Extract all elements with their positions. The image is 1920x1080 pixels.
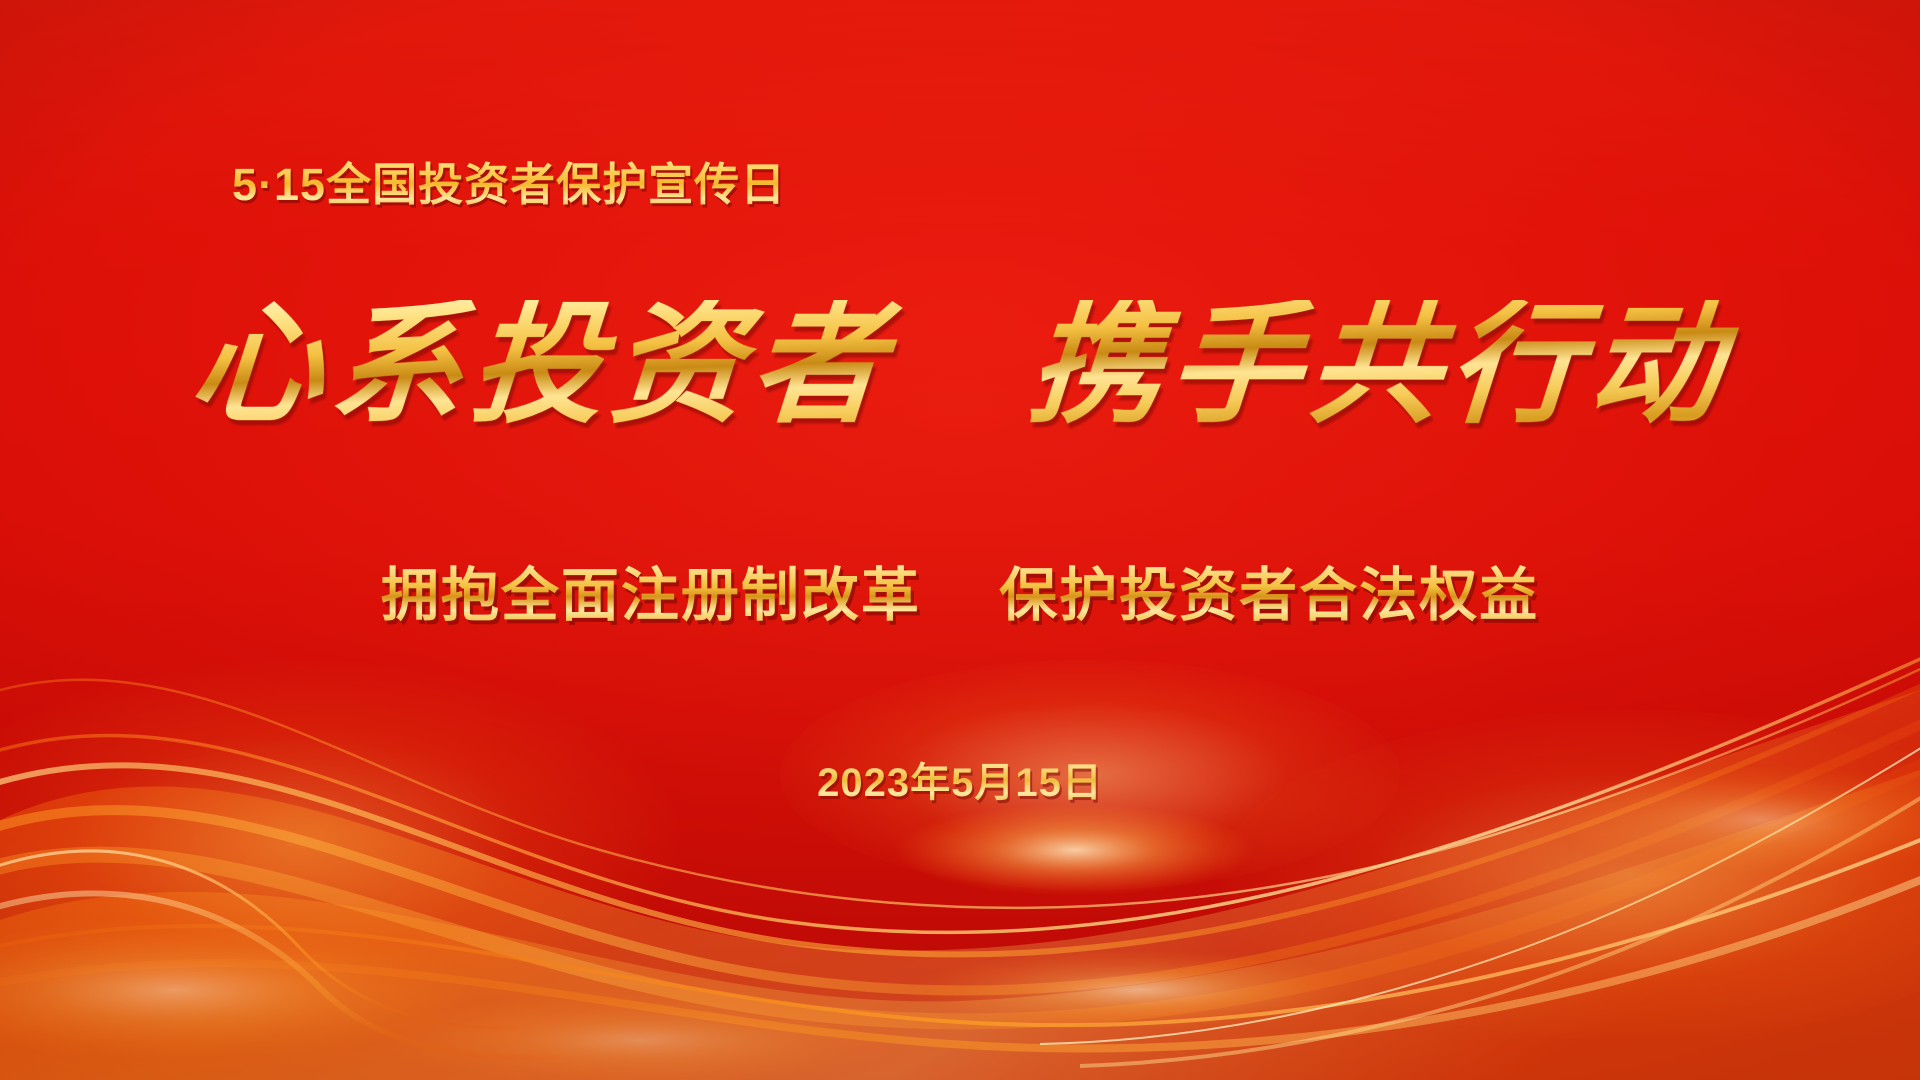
- sub-slogan: 拥抱全面注册制改革 保护投资者合法权益: [0, 548, 1920, 632]
- event-date: 2023年5月15日: [0, 750, 1920, 808]
- subtitle-part-1: 拥抱全面注册制改革: [381, 563, 921, 628]
- poster-banner: 5·15全国投资者保护宣传日 心系投资者 携手共行动 拥抱全面注册制改革 保护投…: [0, 0, 1920, 1080]
- event-eyebrow-title: 5·15全国投资者保护宣传日: [232, 148, 786, 213]
- subtitle-part-2: 保护投资者合法权益: [999, 563, 1539, 628]
- headline-part-2: 携手共行动: [1024, 292, 1734, 439]
- headline-part-1: 心系投资者: [186, 292, 896, 439]
- main-slogan-headline: 心系投资者 携手共行动: [0, 300, 1920, 432]
